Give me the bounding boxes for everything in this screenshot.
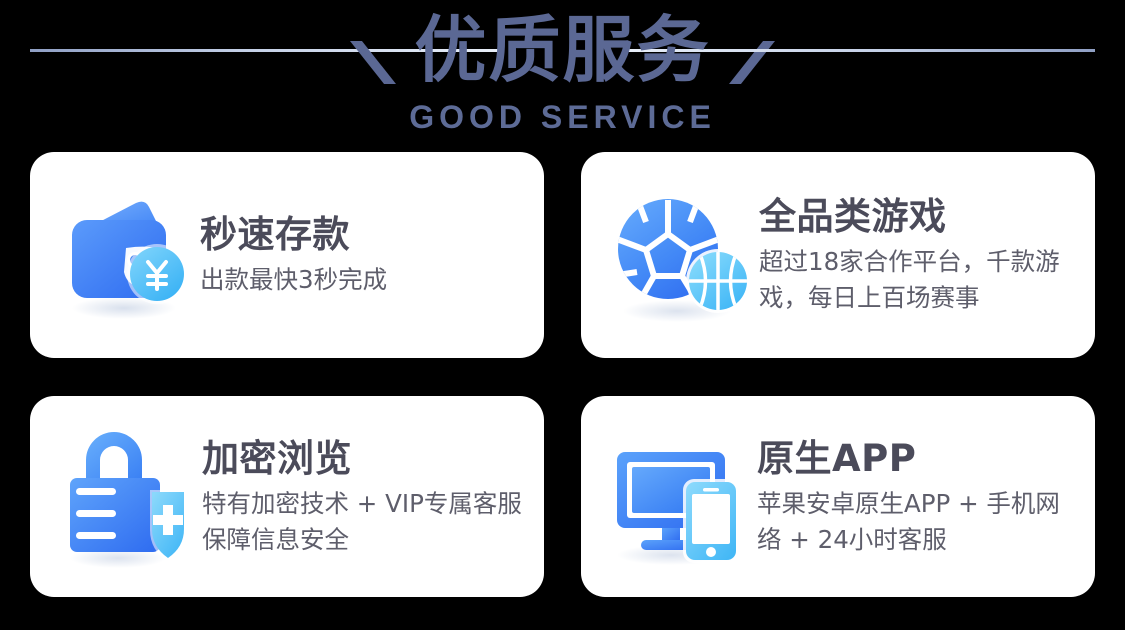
- wallet-yen-icon: [56, 180, 196, 330]
- feature-card-grid: 秒速存款 出款最快3秒完成: [30, 152, 1095, 597]
- monitor-phone-icon: [607, 422, 753, 572]
- feature-card-text: 原生APP 苹果安卓原生APP + 手机网络 + 24小时客服: [753, 436, 1077, 558]
- feature-card-desc: 出款最快3秒完成: [200, 262, 526, 298]
- feature-card-native-app[interactable]: 原生APP 苹果安卓原生APP + 手机网络 + 24小时客服: [581, 396, 1095, 597]
- feature-card-desc: 苹果安卓原生APP + 手机网络 + 24小时客服: [757, 486, 1077, 558]
- feature-card-text: 全品类游戏 超过18家合作平台，千款游戏，每日上百场赛事: [755, 194, 1077, 316]
- feature-card-deposit[interactable]: 秒速存款 出款最快3秒完成: [30, 152, 544, 358]
- feature-card-desc: 特有加密技术 + VIP专属客服保障信息安全: [202, 486, 526, 558]
- feature-card-title: 全品类游戏: [759, 194, 1077, 240]
- feature-card-encryption[interactable]: 加密浏览 特有加密技术 + VIP专属客服保障信息安全: [30, 396, 544, 597]
- feature-card-title: 加密浏览: [202, 436, 526, 482]
- lock-shield-icon: [56, 422, 198, 572]
- feature-card-title: 秒速存款: [200, 212, 526, 258]
- feature-card-games[interactable]: 全品类游戏 超过18家合作平台，千款游戏，每日上百场赛事: [581, 152, 1095, 358]
- feature-card-desc: 超过18家合作平台，千款游戏，每日上百场赛事: [759, 244, 1077, 316]
- feature-card-title: 原生APP: [757, 436, 1077, 482]
- feature-card-text: 秒速存款 出款最快3秒完成: [196, 212, 526, 298]
- banner-header: 优质服务 GOOD SERVICE: [0, 0, 1125, 150]
- page-title: 优质服务: [0, 6, 1125, 94]
- soccer-basketball-icon: [607, 180, 755, 330]
- feature-card-text: 加密浏览 特有加密技术 + VIP专属客服保障信息安全: [198, 436, 526, 558]
- page-subtitle: GOOD SERVICE: [0, 98, 1125, 136]
